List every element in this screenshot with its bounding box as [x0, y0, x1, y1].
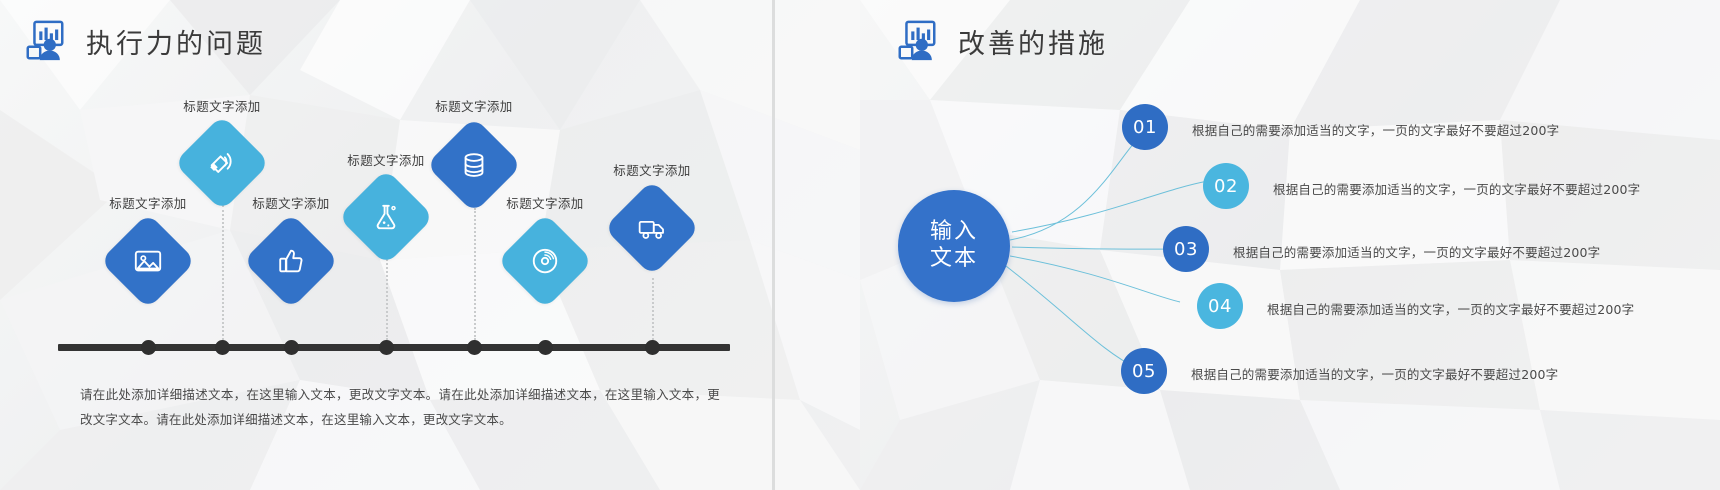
- thumbs-up-icon: [276, 246, 306, 276]
- slide-left: 执行力的问题 标题文字添加: [0, 0, 860, 490]
- timeline-dot: [379, 340, 394, 355]
- node-label: 标题文字添加: [252, 193, 329, 212]
- page-title: 改善的措施: [958, 22, 1108, 61]
- node-label: 标题文字添加: [109, 193, 186, 212]
- timeline-graphic: 标题文字添加 标题文字添加: [0, 0, 860, 490]
- node-diamond[interactable]: [604, 180, 700, 276]
- connector-dash: [222, 205, 224, 340]
- right-slide-header: 改善的措施: [894, 18, 1108, 64]
- presentation-chart-person-icon: [22, 18, 68, 64]
- delivery-truck-icon: [637, 213, 667, 243]
- slide-pair: 执行力的问题 标题文字添加: [0, 0, 1720, 490]
- timeline-bar: [58, 344, 730, 351]
- item-number-badge[interactable]: 05: [1121, 348, 1167, 394]
- node-label: 标题文字添加: [435, 96, 512, 115]
- page-title: 执行力的问题: [86, 22, 266, 61]
- item-text: 根据自己的需要添加适当的文字，一页的文字最好不要超过200字: [1191, 364, 1558, 383]
- radial-diagram: 输入 文本 01 根据自己的需要添加适当的文字，一页的文字最好不要超过200字 …: [860, 0, 1720, 490]
- compact-disc-icon: [530, 246, 560, 276]
- connector-dash: [652, 278, 654, 340]
- timeline-dot: [538, 340, 553, 355]
- timeline-dot: [215, 340, 230, 355]
- node-label: 标题文字添加: [506, 193, 583, 212]
- slide-divider: [772, 0, 775, 490]
- image-picture-icon: [133, 246, 163, 276]
- hub-line-2: 文本: [930, 246, 978, 273]
- timeline-dot: [467, 340, 482, 355]
- item-number-badge[interactable]: 02: [1203, 163, 1249, 209]
- item-text: 根据自己的需要添加适当的文字，一页的文字最好不要超过200字: [1273, 179, 1640, 198]
- item-text: 根据自己的需要添加适当的文字，一页的文字最好不要超过200字: [1233, 242, 1600, 261]
- item-number-badge[interactable]: 03: [1163, 226, 1209, 272]
- node-diamond[interactable]: [497, 213, 593, 309]
- center-hub[interactable]: 输入 文本: [898, 190, 1010, 302]
- database-icon: [459, 150, 489, 180]
- flask-beaker-icon: [371, 202, 401, 232]
- connector-dash: [386, 248, 388, 340]
- description-paragraph: 请在此处添加详细描述文本，在这里输入文本，更改文字文本。请在此处添加详细描述文本…: [80, 382, 720, 432]
- timeline-dot: [645, 340, 660, 355]
- presentation-chart-person-icon: [894, 18, 940, 64]
- hub-line-1: 输入: [930, 219, 978, 246]
- megaphone-icon: [206, 147, 238, 179]
- connector-dash: [474, 208, 476, 340]
- node-diamond[interactable]: [100, 213, 196, 309]
- node-label: 标题文字添加: [183, 96, 260, 115]
- item-number-badge[interactable]: 04: [1197, 283, 1243, 329]
- node-diamond[interactable]: [243, 213, 339, 309]
- timeline-dot: [284, 340, 299, 355]
- node-label: 标题文字添加: [613, 160, 690, 179]
- node-diamond[interactable]: [338, 169, 434, 265]
- left-slide-header: 执行力的问题: [22, 18, 266, 64]
- item-text: 根据自己的需要添加适当的文字，一页的文字最好不要超过200字: [1192, 120, 1559, 139]
- slide-right: 改善的措施 输入 文本 01 根据自己的需要添加适当的文字，一页的文字最好不要超…: [860, 0, 1720, 490]
- item-number-badge[interactable]: 01: [1122, 104, 1168, 150]
- timeline-dot: [141, 340, 156, 355]
- node-label: 标题文字添加: [347, 150, 424, 169]
- item-text: 根据自己的需要添加适当的文字，一页的文字最好不要超过200字: [1267, 299, 1634, 318]
